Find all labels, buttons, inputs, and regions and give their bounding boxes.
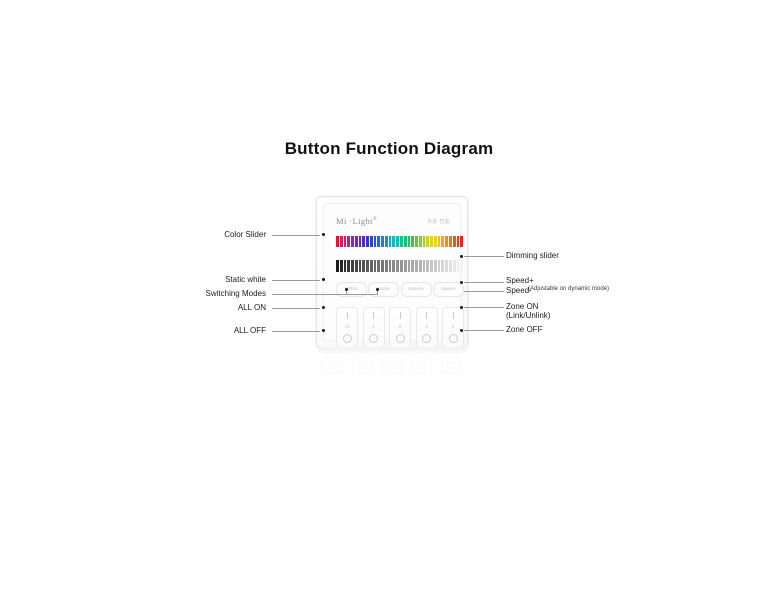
- panel-face: Mi ·Light® 米家 智能 WhiteModeSpeed+Speed- A…: [323, 203, 461, 341]
- callout-color-slider: Color Slider: [176, 230, 266, 240]
- zone-on-icon-zone-3[interactable]: [426, 312, 427, 319]
- dot-zone-on: [460, 306, 463, 309]
- zone-key-zone-2: 2: [389, 307, 411, 348]
- zone-label-zone-1: 1: [372, 324, 375, 329]
- page-title: Button Function Diagram: [0, 139, 778, 159]
- leader-zone-off: [464, 330, 504, 331]
- callout-switching-modes: Switching Modes: [156, 289, 266, 299]
- zone-label-zone-3: 3: [425, 324, 428, 329]
- zone-off-icon-zone-2[interactable]: [396, 334, 405, 343]
- callout-all-on: ALL ON: [176, 303, 266, 313]
- dot-dimming-slider: [460, 255, 463, 258]
- zone-key-zone-4: 4: [442, 307, 464, 348]
- panel-reflection: [322, 357, 462, 379]
- reflection-key: [382, 357, 403, 374]
- color-slider-segment[interactable]: [460, 236, 464, 247]
- zone-label-zone-4: 4: [452, 324, 455, 329]
- zone-on-icon-all[interactable]: [347, 312, 348, 319]
- callout-zone-off: Zone OFF: [506, 325, 542, 335]
- dimming-slider[interactable]: [336, 260, 464, 272]
- dot-mode-button: [345, 288, 348, 291]
- leader-speed-plus: [464, 282, 504, 283]
- dot-color-slider: [322, 233, 325, 236]
- mode-button-speed-plus[interactable]: Speed+: [401, 282, 432, 297]
- reflection-key: [322, 357, 343, 374]
- leader-static-white: [272, 280, 320, 281]
- zone-off-icon-zone-1[interactable]: [369, 334, 378, 343]
- leader-speed-minus: [464, 291, 504, 292]
- callout-static-white: Static white: [176, 275, 266, 285]
- zone-on-icon-zone-2[interactable]: [400, 312, 401, 319]
- dot-speed: [460, 281, 463, 284]
- dot-speed-button: [376, 288, 379, 291]
- callout-zone-on-sub: (Link/Unlink): [506, 311, 550, 321]
- zone-off-icon-zone-4[interactable]: [449, 334, 458, 343]
- zone-label-zone-2: 2: [399, 324, 402, 329]
- leader-dimming-slider: [464, 256, 504, 257]
- dot-zone-off: [460, 329, 463, 332]
- zone-key-row: All1234: [336, 307, 464, 348]
- zone-off-icon-all[interactable]: [343, 334, 352, 343]
- zone-key-all: All: [336, 307, 358, 348]
- dot-all-on: [322, 306, 325, 309]
- reflection-key: [352, 357, 373, 374]
- mi-light-logo: Mi ·Light®: [336, 216, 377, 226]
- leader-all-off: [272, 331, 320, 332]
- panel-frame: Mi ·Light® 米家 智能 WhiteModeSpeed+Speed- A…: [316, 196, 468, 348]
- dimming-slider-segment[interactable]: [460, 260, 464, 272]
- callout-all-off: ALL OFF: [176, 326, 266, 336]
- reflection-key: [411, 357, 432, 374]
- dot-all-off: [322, 329, 325, 332]
- zone-key-zone-1: 1: [363, 307, 385, 348]
- brand-name: Mi ·Light: [336, 216, 373, 226]
- zone-off-icon-zone-3[interactable]: [422, 334, 431, 343]
- callout-dimming-slider: Dimming slider: [506, 251, 559, 261]
- color-slider[interactable]: [336, 236, 464, 247]
- mode-button-speed-minus[interactable]: Speed-: [433, 282, 464, 297]
- brand-registered-mark: ®: [373, 217, 377, 222]
- panel-bottom-lip: [318, 347, 466, 357]
- leader-zone-on: [464, 307, 504, 308]
- leader-color-slider: [272, 235, 320, 236]
- leader-switching-modes: [272, 294, 377, 295]
- dot-static-white: [322, 278, 325, 281]
- device-panel: Mi ·Light® 米家 智能 WhiteModeSpeed+Speed- A…: [316, 196, 468, 348]
- zone-key-zone-3: 3: [416, 307, 438, 348]
- callout-speed-note: (Adjustable on dynamic mode): [528, 284, 609, 294]
- brand-row: Mi ·Light® 米家 智能: [336, 214, 450, 228]
- reflection-key: [441, 357, 462, 374]
- leader-all-on: [272, 308, 320, 309]
- secondary-logo: 米家 智能: [427, 218, 450, 225]
- zone-on-icon-zone-4[interactable]: [453, 312, 454, 319]
- zone-label-all: All: [344, 324, 349, 329]
- zone-on-icon-zone-1[interactable]: [373, 312, 374, 319]
